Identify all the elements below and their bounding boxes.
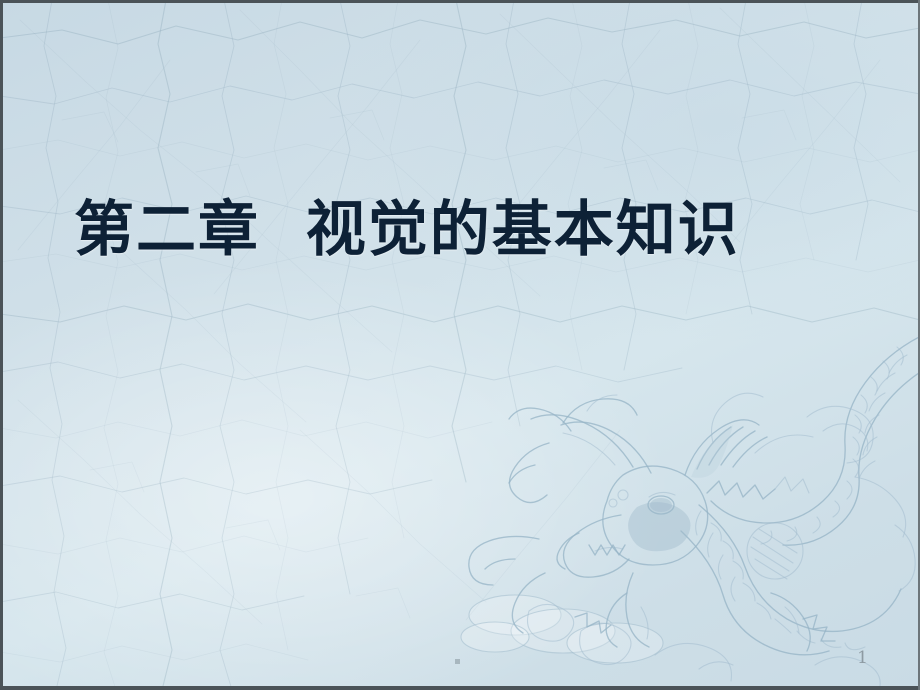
page-title: 第二章 视觉的基本知识	[74, 199, 740, 262]
slide-background	[0, 0, 920, 690]
presentation-slide: 第二章 视觉的基本知识 1	[0, 0, 920, 690]
page-number: 1	[857, 648, 868, 668]
footer-mark	[455, 659, 460, 664]
title-block: 第二章 视觉的基本知识	[74, 178, 754, 282]
